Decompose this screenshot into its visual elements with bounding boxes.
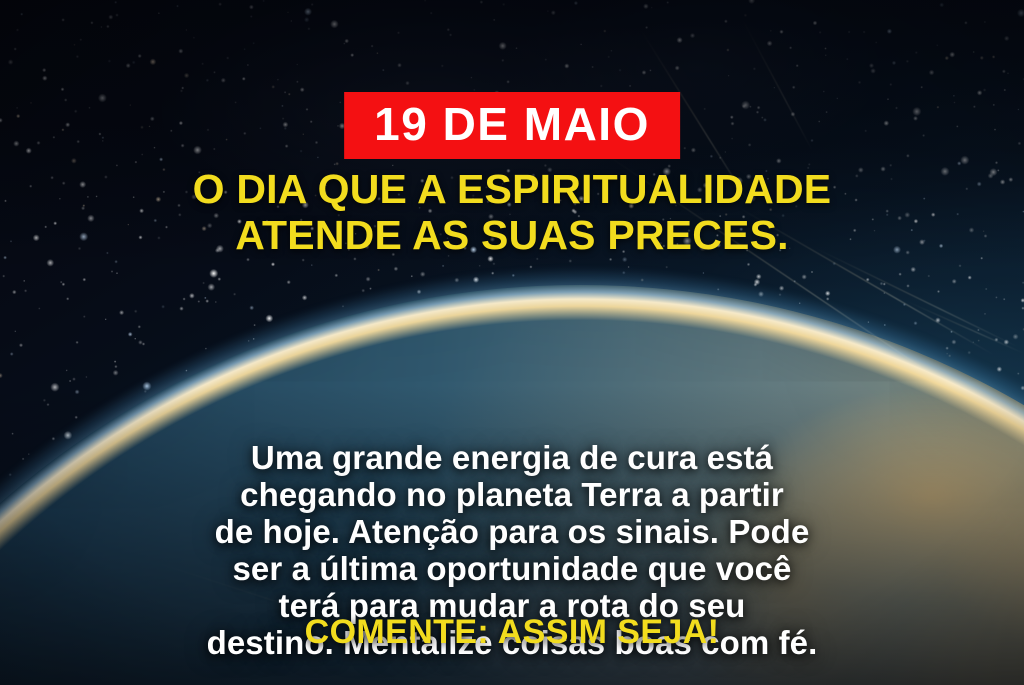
headline-text: O DIA QUE A ESPIRITUALIDADE ATENDE AS SU… xyxy=(0,166,1024,259)
date-banner-label: 19 DE MAIO xyxy=(374,101,650,147)
poster-content: 19 DE MAIO O DIA QUE A ESPIRITUALIDADE A… xyxy=(0,0,1024,685)
poster-canvas: 19 DE MAIO O DIA QUE A ESPIRITUALIDADE A… xyxy=(0,0,1024,685)
date-banner: 19 DE MAIO xyxy=(344,92,680,159)
call-to-action-text: COMENTE: ASSIM SEJA! xyxy=(0,613,1024,652)
